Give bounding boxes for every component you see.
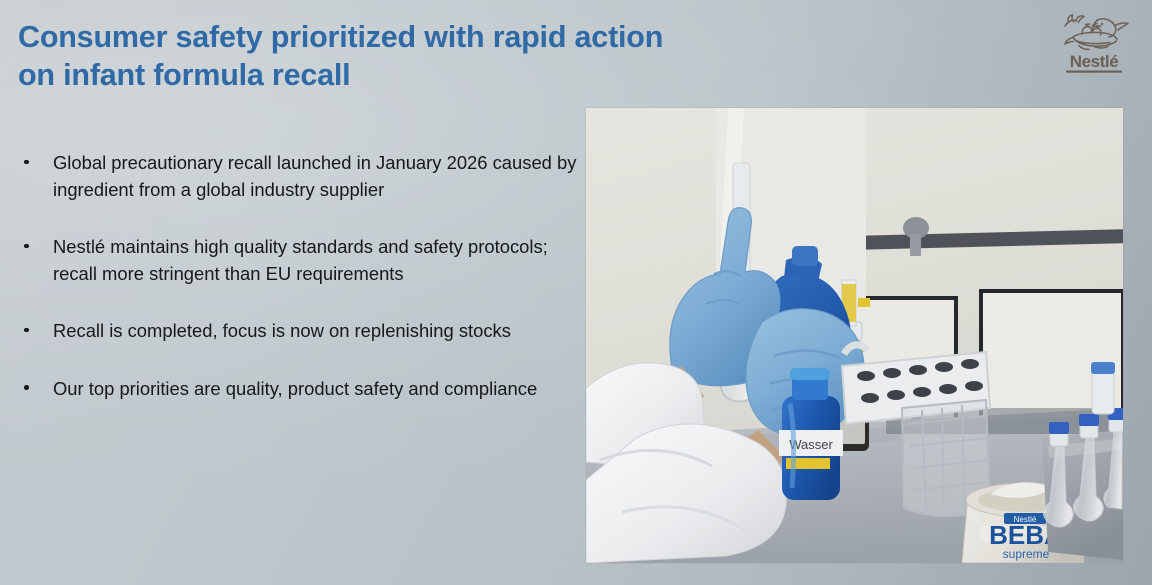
- nestle-logo: Nestlé: [1054, 9, 1134, 81]
- bullet-dot-icon: [24, 328, 29, 333]
- bullet-list: Global precautionary recall launched in …: [20, 150, 580, 402]
- page-title-line-1: Consumer safety prioritized with rapid a…: [18, 18, 758, 56]
- wordmark-underline: [1066, 71, 1122, 73]
- slide-canvas: Consumer safety prioritized with rapid a…: [0, 0, 1152, 585]
- page-title: Consumer safety prioritized with rapid a…: [18, 18, 758, 95]
- page-title-line-2: on infant formula recall: [18, 56, 758, 94]
- list-item-text: Nestlé maintains high quality standards …: [53, 234, 580, 287]
- list-item-text: Recall is completed, focus is now on rep…: [53, 318, 580, 345]
- nest-emblem-icon: [1065, 15, 1128, 50]
- list-item-text: Global precautionary recall launched in …: [53, 150, 580, 203]
- laboratory-quality-testing-photo: Wasser: [586, 108, 1123, 563]
- bullet-dot-icon: [24, 244, 29, 249]
- bullet-dot-icon: [24, 385, 29, 390]
- list-item: Recall is completed, focus is now on rep…: [20, 318, 580, 345]
- nestle-wordmark: Nestlé: [1070, 52, 1119, 71]
- list-item: Nestlé maintains high quality standards …: [20, 234, 580, 287]
- bullet-dot-icon: [24, 160, 29, 165]
- list-item-text: Our top priorities are quality, product …: [53, 376, 580, 403]
- list-item: Our top priorities are quality, product …: [20, 376, 580, 403]
- list-item: Global precautionary recall launched in …: [20, 150, 580, 203]
